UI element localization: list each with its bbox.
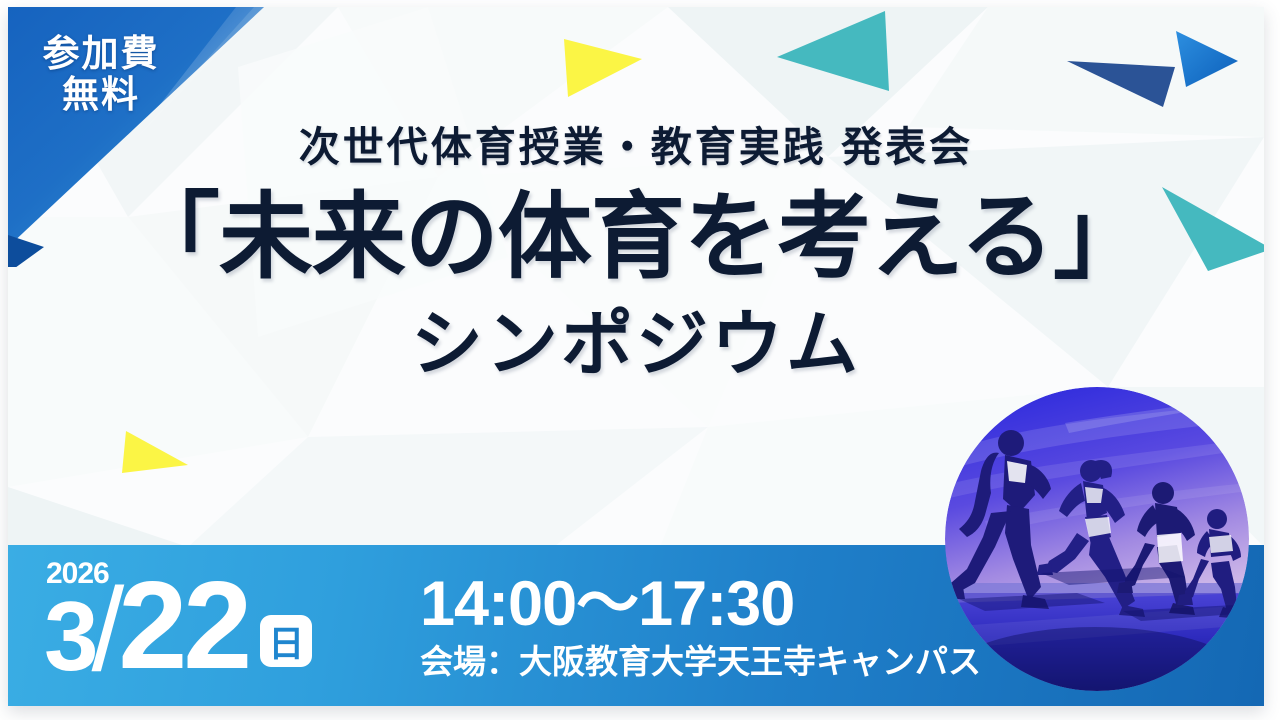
runners-photo bbox=[945, 387, 1249, 691]
event-day: 22 bbox=[118, 573, 248, 680]
year-month-group: 2026 3 bbox=[44, 563, 96, 679]
event-time: 14:00〜17:30 bbox=[420, 573, 981, 636]
triangle-teal-top-icon bbox=[763, 7, 893, 99]
day-of-week-badge: 日 bbox=[260, 615, 312, 667]
ribbon-line-1: 参加費 bbox=[26, 33, 176, 74]
poster-card: 参加費 無料 次世代体育授業・教育実践 発表会 「未来の体育を考える」 シンポジ… bbox=[8, 7, 1264, 706]
event-date: 2026 3 / 22 日 bbox=[44, 563, 312, 679]
triangle-blue-right-icon bbox=[1168, 25, 1246, 95]
date-separator: / bbox=[92, 580, 125, 681]
poster-canvas: 参加費 無料 次世代体育授業・教育実践 発表会 「未来の体育を考える」 シンポジ… bbox=[0, 0, 1280, 720]
page-title: 「未来の体育を考える」 bbox=[8, 188, 1264, 287]
page-subtitle: シンポジウム bbox=[8, 309, 1264, 381]
headline-group: 次世代体育授業・教育実践 発表会 「未来の体育を考える」 シンポジウム bbox=[8, 127, 1264, 381]
triangle-yellow-top-icon bbox=[558, 25, 648, 103]
ribbon-label: 参加費 無料 bbox=[26, 33, 176, 116]
triangle-navy-top-icon bbox=[1053, 49, 1183, 111]
event-month: 3 bbox=[44, 593, 96, 679]
time-venue-group: 14:00〜17:30 会場：大阪教育大学天王寺キャンパス bbox=[420, 573, 981, 680]
event-kicker: 次世代体育授業・教育実践 発表会 bbox=[8, 127, 1264, 168]
event-venue: 会場：大阪教育大学天王寺キャンパス bbox=[420, 644, 981, 680]
triangle-yellow-left-icon bbox=[118, 423, 198, 479]
runners-illustration-icon bbox=[945, 387, 1249, 691]
ribbon-line-2: 無料 bbox=[26, 74, 176, 115]
